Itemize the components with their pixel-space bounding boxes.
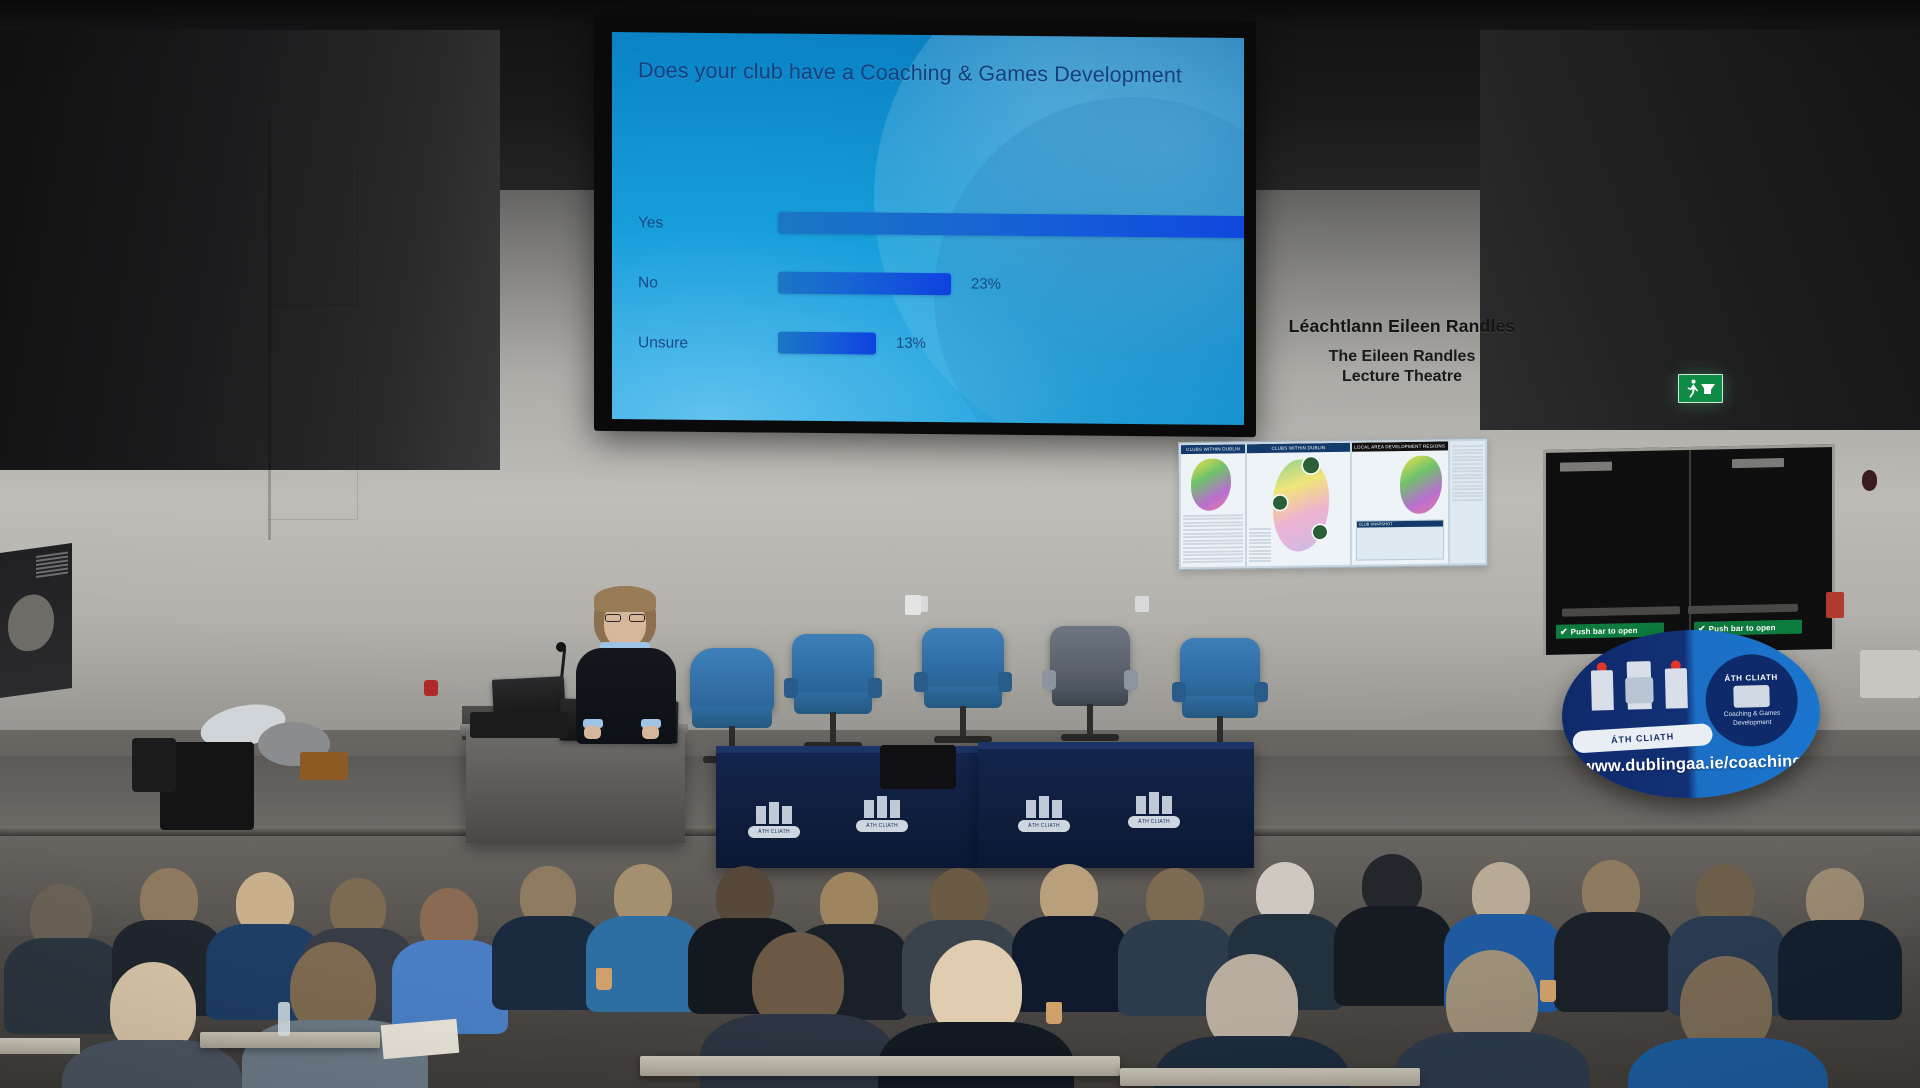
wall-portrait-plaque bbox=[0, 543, 72, 698]
audience bbox=[0, 806, 1920, 1088]
lecture-desk bbox=[640, 1056, 1120, 1076]
presenter-hand-left bbox=[584, 726, 601, 739]
poster-text-rows bbox=[1452, 445, 1483, 503]
chair-base bbox=[1061, 734, 1119, 741]
lecture-theatre-photo: Does your club have a Coaching & Games D… bbox=[0, 0, 1920, 1088]
lecture-desk bbox=[0, 1038, 80, 1054]
coffee-cup bbox=[596, 968, 612, 990]
crest-tower bbox=[1591, 670, 1614, 711]
chair-back bbox=[690, 648, 774, 714]
chart-row-no: No 23% bbox=[638, 262, 1244, 328]
chair-armrest-right bbox=[868, 678, 882, 698]
notes-paper bbox=[381, 1019, 460, 1059]
slide-content: Does your club have a Coaching & Games D… bbox=[612, 32, 1244, 425]
check-icon: ✔ bbox=[1560, 626, 1568, 637]
bar-value-unsure: 13% bbox=[896, 335, 926, 352]
door-plate-right bbox=[1732, 458, 1784, 468]
presenter bbox=[560, 586, 690, 746]
running-person-exit-icon bbox=[1687, 379, 1699, 399]
dublin-map-graphic bbox=[1191, 458, 1231, 511]
audience-torso-front bbox=[878, 1022, 1074, 1088]
poster-heading-0: CLUBS WITHIN DUBLIN bbox=[1181, 444, 1245, 454]
chair-armrest-left bbox=[1172, 682, 1186, 702]
water-bottle bbox=[278, 1002, 290, 1036]
exit-sign-housing bbox=[1668, 365, 1730, 374]
chart-row-unsure: Unsure 13% bbox=[638, 322, 1244, 388]
chair-post bbox=[960, 706, 966, 738]
wall-plate bbox=[905, 595, 921, 615]
cardboard-box bbox=[300, 752, 348, 780]
presenter-fringe bbox=[594, 586, 656, 612]
poster-heading-2: LOCAL AREA DEVELOPMENT REGIONS bbox=[1352, 441, 1448, 451]
bar-value-no: 23% bbox=[971, 275, 1001, 292]
wall-socket bbox=[1135, 596, 1149, 612]
push-bar-sign-left-label: Push bar to open bbox=[1571, 626, 1638, 636]
chart-row-yes: Yes bbox=[638, 202, 1244, 268]
coaching-development-roundel: ÁTH CLIATH Coaching & Games Development bbox=[1704, 653, 1798, 747]
bar-label-unsure: Unsure bbox=[638, 334, 688, 352]
waste-bin bbox=[1860, 650, 1920, 698]
chair-back bbox=[1050, 626, 1130, 692]
push-bar-left[interactable] bbox=[1562, 606, 1680, 616]
projection-screen: Does your club have a Coaching & Games D… bbox=[594, 15, 1256, 437]
bar-track-unsure bbox=[778, 332, 876, 355]
audience-torso bbox=[586, 916, 702, 1012]
glasses-icon bbox=[605, 614, 645, 622]
bar-label-yes: Yes bbox=[638, 214, 663, 232]
chair-armrest-left bbox=[914, 672, 928, 692]
poster-heading-3: CLUB SNAPSHOT bbox=[1357, 520, 1443, 527]
club-snapshot-table: CLUB SNAPSHOT bbox=[1356, 519, 1444, 560]
chair-seat bbox=[924, 686, 1002, 708]
chair-armrest-right bbox=[1254, 682, 1268, 702]
slide-title: Does your club have a Coaching & Games D… bbox=[638, 58, 1244, 90]
coffee-cup bbox=[1540, 980, 1556, 1002]
av-control-panel[interactable] bbox=[470, 712, 568, 738]
poster-board: CLUBS WITHIN DUBLIN CLUBS WITHIN DUBLIN … bbox=[1178, 438, 1488, 570]
bar-fill-no bbox=[778, 272, 951, 296]
poll-bar-chart: Yes No 23% Unsure bbox=[638, 202, 1244, 388]
audience-torso-front bbox=[1394, 1032, 1590, 1088]
roundel-sub-line2: Development bbox=[1733, 718, 1772, 727]
poster-heading-1: CLUBS WITHIN DUBLIN bbox=[1247, 443, 1350, 453]
lecture-desk bbox=[1120, 1068, 1420, 1086]
sign-irish-name: Léachtlann Eileen Randles bbox=[1222, 316, 1582, 337]
chair-seat bbox=[1052, 684, 1128, 706]
double-exit-doors: ✔ Push bar to open ✔ Push bar to open bbox=[1543, 444, 1835, 655]
chair-seat bbox=[692, 706, 772, 728]
lecture-theatre-sign: Léachtlann Eileen Randles The Eileen Ran… bbox=[1222, 316, 1582, 387]
chair-back bbox=[792, 634, 874, 700]
lecture-desk bbox=[200, 1032, 380, 1048]
regions-map-graphic bbox=[1400, 455, 1442, 514]
coffee-cup bbox=[1046, 1002, 1062, 1024]
bar-fill-unsure bbox=[778, 332, 876, 355]
chair-armrest-left bbox=[784, 678, 798, 698]
chair-seat bbox=[794, 692, 872, 714]
portrait-caption-lines bbox=[36, 552, 68, 580]
chair-post bbox=[1087, 704, 1093, 736]
poster-text-rows bbox=[1183, 514, 1243, 565]
bar-label-no: No bbox=[638, 274, 658, 292]
sign-english-name-line1: The Eileen Randles bbox=[1222, 347, 1582, 367]
wall-panel bbox=[268, 165, 358, 305]
audience-torso bbox=[1554, 912, 1672, 1012]
fire-alarm-call-point[interactable] bbox=[1826, 592, 1844, 618]
door-plate-left bbox=[1560, 462, 1612, 472]
audience-torso bbox=[1334, 906, 1452, 1006]
door-alarm-sensor bbox=[1862, 470, 1877, 491]
audience-torso bbox=[4, 938, 124, 1034]
bar-track-no bbox=[778, 272, 951, 296]
emergency-button[interactable] bbox=[424, 680, 438, 696]
emergency-exit-sign bbox=[1678, 374, 1723, 403]
drape-top-edge bbox=[978, 742, 1254, 749]
chair-3 bbox=[922, 628, 1004, 752]
door-split bbox=[1689, 450, 1691, 652]
left-wall-shadow bbox=[0, 0, 500, 470]
laptop-bag bbox=[880, 745, 956, 789]
chair-seat bbox=[1182, 696, 1258, 718]
speaker-cabinet bbox=[132, 738, 176, 792]
chair-armrest-right bbox=[1124, 670, 1138, 690]
chair-armrest-right bbox=[998, 672, 1012, 692]
chair-armrest-left bbox=[1042, 670, 1056, 690]
portrait-face bbox=[8, 591, 54, 653]
poster-photo-circle bbox=[1313, 525, 1327, 539]
poster-clubs-map: CLUBS WITHIN DUBLIN bbox=[1181, 444, 1245, 567]
crest-ship-icon bbox=[1625, 677, 1654, 704]
wall-panel bbox=[268, 370, 358, 520]
chair-2 bbox=[792, 634, 874, 758]
audience-torso bbox=[1012, 916, 1128, 1012]
audience-torso-front bbox=[1628, 1038, 1828, 1088]
presenter-hand-right bbox=[642, 726, 659, 739]
audience-torso bbox=[1778, 920, 1902, 1020]
sign-english-name-line2: Lecture Theatre bbox=[1222, 367, 1582, 387]
chair-back bbox=[922, 628, 1004, 694]
roundel-title: ÁTH CLIATH bbox=[1724, 673, 1778, 683]
poster-clubs-within-dublin: CLUBS WITHIN DUBLIN bbox=[1247, 443, 1350, 566]
down-arrow-icon bbox=[1701, 384, 1715, 394]
poster-info-panel bbox=[1450, 441, 1485, 563]
roundel-crest-icon bbox=[1733, 685, 1770, 708]
crest-ribbon-label: ÁTH CLIATH bbox=[1611, 731, 1675, 745]
bar-track-yes bbox=[778, 212, 1244, 239]
bar-fill-yes bbox=[778, 212, 1244, 239]
chair-back bbox=[1180, 638, 1260, 704]
poster-text-rows bbox=[1249, 528, 1271, 564]
audience-torso-front bbox=[700, 1014, 896, 1088]
slide-surface: Does your club have a Coaching & Games D… bbox=[612, 32, 1244, 425]
chair-post bbox=[830, 712, 836, 744]
push-bar-right[interactable] bbox=[1688, 604, 1798, 614]
crest-tower bbox=[1665, 668, 1688, 709]
chair-4 bbox=[1050, 626, 1130, 750]
poster-local-area-development: LOCAL AREA DEVELOPMENT REGIONS CLUB SNAP… bbox=[1352, 441, 1448, 564]
